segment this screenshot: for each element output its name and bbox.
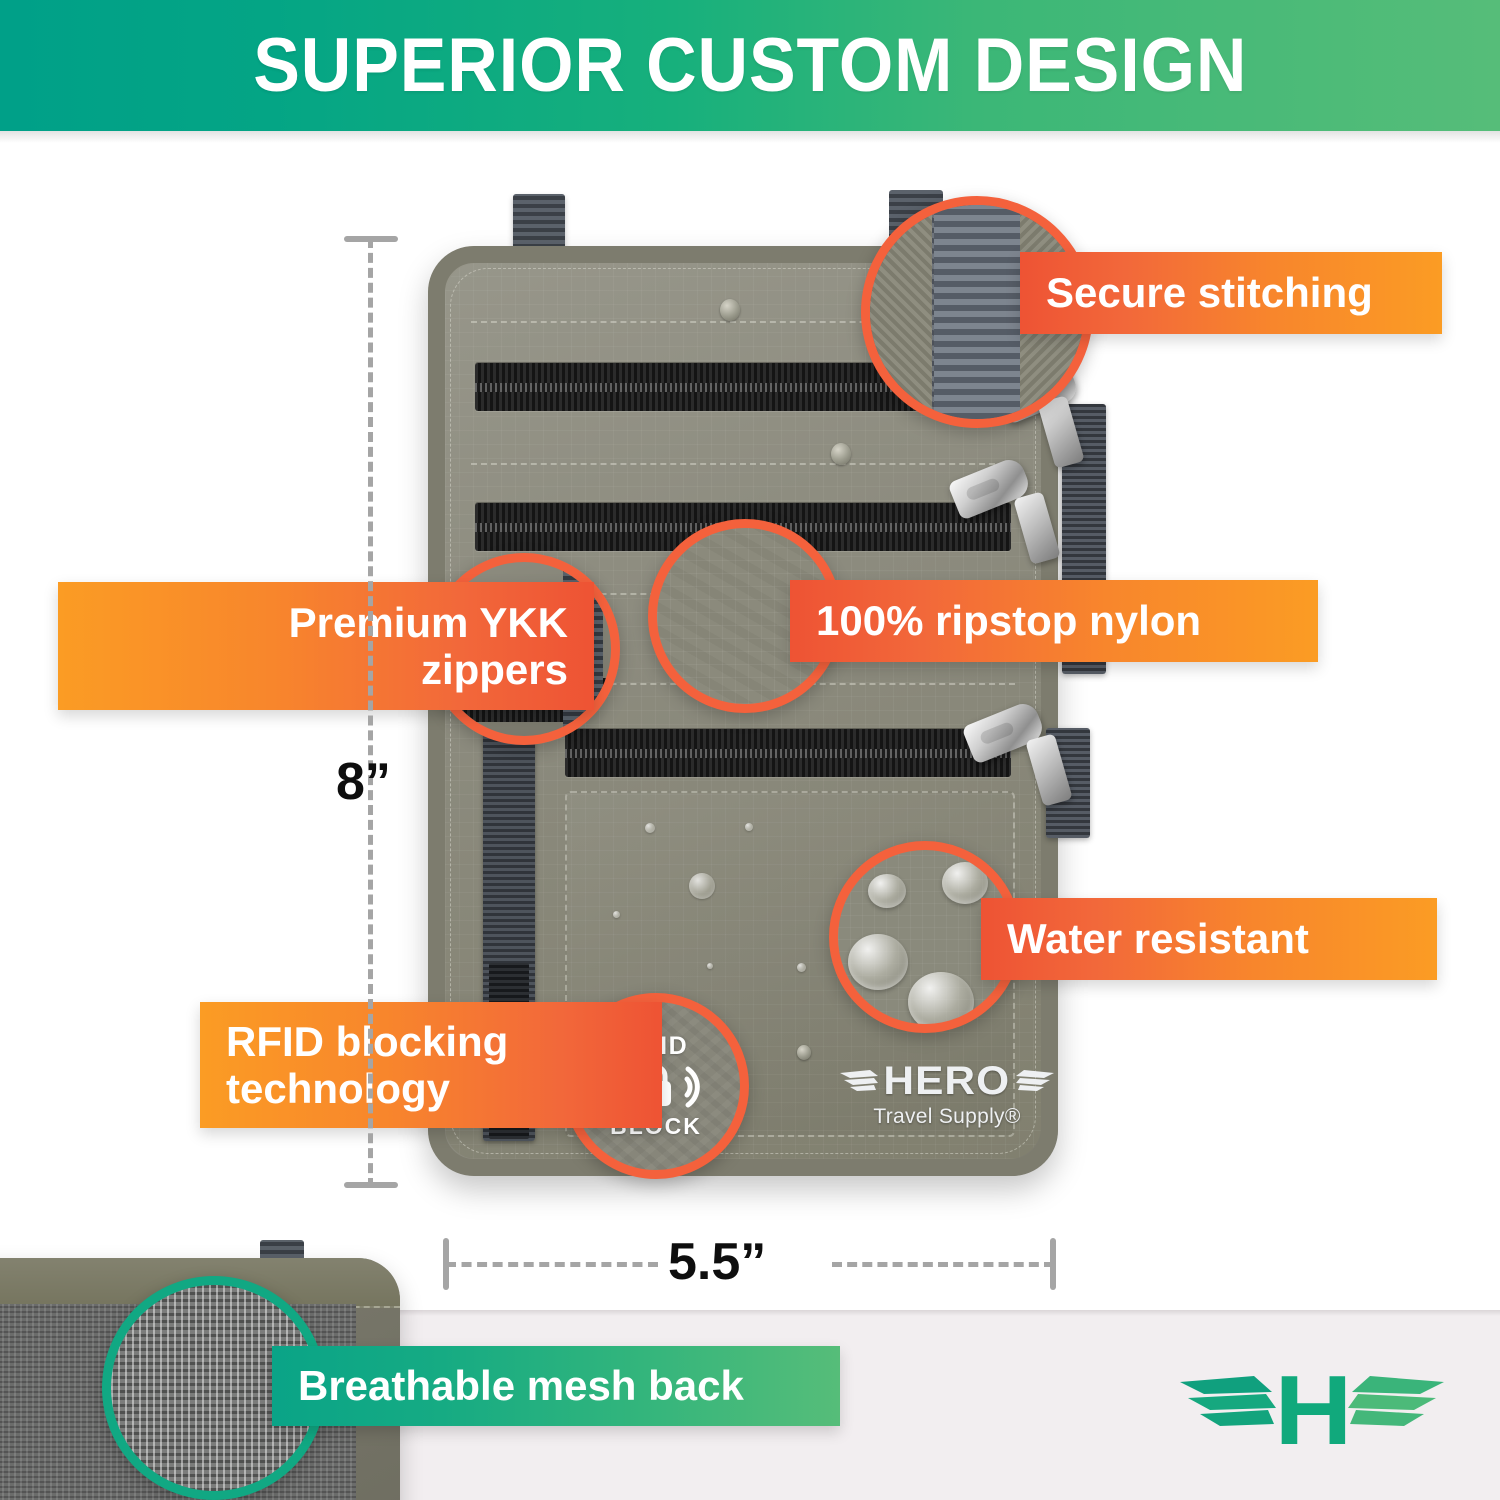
- callout-text: Breathable mesh back: [298, 1362, 744, 1409]
- signal-waves-right-icon: [684, 1061, 718, 1113]
- callout-label-secure-stitching[interactable]: Secure stitching: [1020, 252, 1442, 334]
- dimension-width-label: 5.5”: [668, 1232, 766, 1292]
- header-shadow: [0, 131, 1500, 143]
- infographic-canvas: SUPERIOR CUSTOM DESIGN: [0, 0, 1500, 1500]
- callout-label-water-resistant[interactable]: Water resistant: [981, 898, 1437, 980]
- dimension-cap-bottom: [344, 1182, 398, 1188]
- dimension-height-label: 8”: [336, 752, 391, 812]
- dimension-line-vertical: [368, 238, 373, 1188]
- callout-text: 100% ripstop nylon: [816, 597, 1201, 644]
- stitching-webbing: [934, 199, 1020, 428]
- callout-text: Secure stitching: [1046, 269, 1373, 316]
- callout-label-breathable-mesh[interactable]: Breathable mesh back: [272, 1346, 840, 1426]
- water-bead: [848, 934, 908, 990]
- water-bead: [868, 874, 906, 908]
- callout-label-ripstop-nylon[interactable]: 100% ripstop nylon: [790, 580, 1318, 662]
- logo-wing-left-icon: [1180, 1376, 1284, 1438]
- callout-label-ykk-zippers[interactable]: Premium YKK zippers: [58, 582, 594, 710]
- stitching-fabric-left: [870, 205, 932, 419]
- logo-letter: H: [1274, 1361, 1350, 1459]
- footer-brand-logo: H: [1178, 1356, 1446, 1464]
- dimension-line-horizontal-left: [446, 1262, 658, 1267]
- dimension-line-horizontal-right: [832, 1262, 1054, 1267]
- callout-text-line2: technology: [226, 1065, 450, 1112]
- callout-text: Water resistant: [1007, 915, 1309, 962]
- water-bead: [908, 972, 974, 1032]
- callout-text-line1: Premium YKK: [289, 599, 568, 646]
- dimension-cap-right: [1050, 1238, 1056, 1290]
- callout-label-rfid-blocking[interactable]: RFID blocking technology: [200, 1002, 662, 1128]
- page-title: SUPERIOR CUSTOM DESIGN: [253, 22, 1247, 109]
- logo-wing-right-icon: [1340, 1376, 1444, 1438]
- callout-text-line2: zippers: [421, 646, 568, 693]
- header-banner: SUPERIOR CUSTOM DESIGN: [0, 0, 1500, 131]
